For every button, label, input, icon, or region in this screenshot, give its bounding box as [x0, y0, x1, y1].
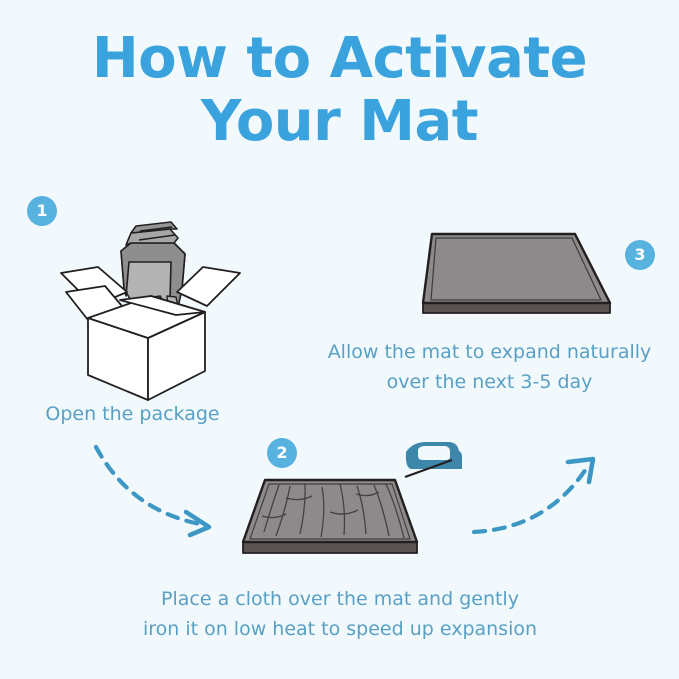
arrow-step1-to-step2	[96, 447, 209, 535]
step-badge-3[interactable]: 3	[625, 240, 655, 270]
page-title: How to Activate Your Mat	[0, 28, 679, 153]
step-1-open-box-illustration	[61, 222, 240, 400]
infographic-poster: How to Activate Your Mat	[0, 0, 679, 679]
step-3-caption: Allow the mat to expand naturally over t…	[300, 337, 679, 397]
step-2-caption-line-1: Place a cloth over the mat and gently	[80, 584, 600, 614]
rolled-mat-in-box	[121, 222, 185, 309]
step-badge-1[interactable]: 1	[27, 196, 57, 226]
step-2-wrinkled-mat-illustration	[243, 480, 417, 553]
step-3-caption-line-2: over the next 3-5 day	[300, 367, 679, 397]
title-line-1: How to Activate	[0, 28, 679, 91]
step-1-caption: Open the package	[0, 399, 265, 429]
step-3-flat-mat-illustration	[423, 234, 610, 313]
arrow-step2-to-step3	[474, 459, 593, 532]
step-2-caption-line-2: iron it on low heat to speed up expansio…	[80, 614, 600, 644]
mat-crease-lines	[262, 484, 404, 538]
title-line-2: Your Mat	[0, 91, 679, 154]
step-3-caption-line-1: Allow the mat to expand naturally	[300, 337, 679, 367]
step-2-caption: Place a cloth over the mat and gently ir…	[80, 584, 600, 644]
step-1-caption-line-1: Open the package	[0, 399, 265, 429]
iron-icon	[405, 442, 462, 477]
step-badge-2[interactable]: 2	[267, 438, 297, 468]
